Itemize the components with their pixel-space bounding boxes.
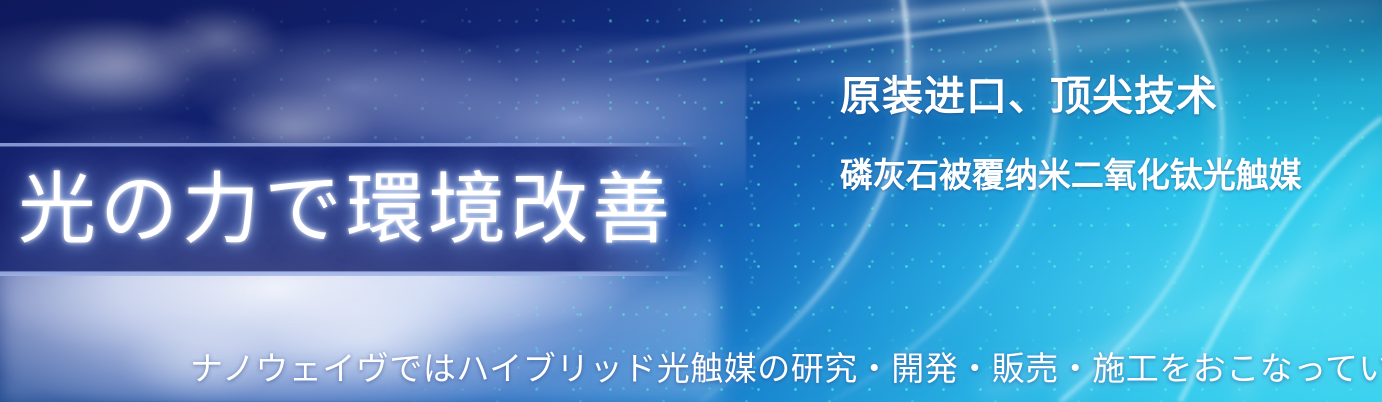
headline-japanese: 光の力で環境改善 <box>18 163 674 257</box>
tagline-japanese: ナノウェイヴではハイブリッド光触媒の研究・開発・販売・施工をおこなっています <box>190 349 1382 389</box>
subheading-chinese-secondary: 磷灰石被覆纳米二氧化钛光触媒 <box>840 157 1302 195</box>
subheading-chinese-primary: 原装进口、顶尖技术 <box>840 74 1218 118</box>
hero-banner: 光の力で環境改善 原装进口、顶尖技术 磷灰石被覆纳米二氧化钛光触媒 ナノウェイヴ… <box>0 0 1382 402</box>
